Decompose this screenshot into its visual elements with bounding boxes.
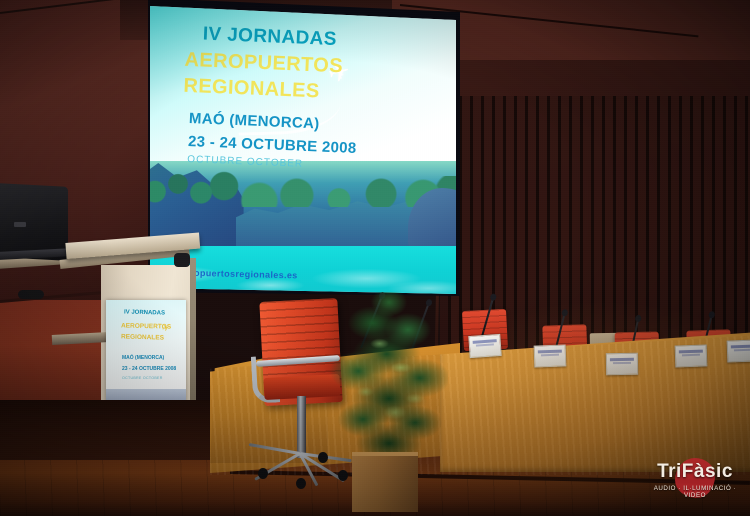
planter-box xyxy=(352,452,418,512)
name-card-text-line xyxy=(734,349,750,352)
name-card-text-line xyxy=(613,362,631,364)
plant-highlights xyxy=(330,292,448,464)
potted-plant-foliage xyxy=(330,292,448,464)
chair-caster xyxy=(318,452,328,463)
chair-caster xyxy=(338,470,348,481)
podium-microphone-base xyxy=(174,253,190,267)
slide-dates: 23 - 24 OCTUBRE 2008 xyxy=(188,133,357,157)
banner-title-line3: REGIONALES xyxy=(121,334,164,342)
name-card-text-line xyxy=(682,354,700,357)
chair-caster xyxy=(258,468,268,479)
name-card-text-line xyxy=(476,343,494,346)
slide-month-caption: OCTUBRE OCTOBER xyxy=(187,154,303,170)
foreground-chair-column xyxy=(297,396,306,458)
banner-location: MAÓ (MENORCA) xyxy=(122,355,164,361)
table-microphone-base xyxy=(18,290,44,299)
watermark-name: TriFàsic xyxy=(645,462,745,481)
banner-dates: 23 - 24 OCTUBRE 2008 xyxy=(122,366,176,372)
laptop-logo-icon xyxy=(14,222,26,227)
watermark-subtitle: AUDIO · IL·LUMINACIÓ · VIDEO xyxy=(645,485,745,499)
slide-title-line1: IV JORNADAS xyxy=(202,24,337,52)
banner-title-line2: AEROPUERTOS xyxy=(121,322,171,330)
name-card-text-line xyxy=(541,354,559,357)
conference-hall-photo: ✈ IV JORNADAS AEROPUERTOS REGIONALES MAÓ… xyxy=(0,0,750,516)
name-card xyxy=(727,339,750,362)
name-card xyxy=(675,344,708,367)
chair-caster xyxy=(296,478,306,489)
name-card xyxy=(606,353,638,376)
planter-box-rim xyxy=(352,452,418,456)
photographer-watermark: TriFàsic AUDIO · IL·LUMINACIÓ · VIDEO xyxy=(645,462,745,508)
projection-screen: ✈ IV JORNADAS AEROPUERTOS REGIONALES MAÓ… xyxy=(112,0,456,304)
banner-month-caption: OCTUBRE OCTOBER xyxy=(122,376,163,380)
name-card xyxy=(468,334,501,358)
banner-title-line1: IV JORNADAS xyxy=(124,309,165,316)
name-card-text-line xyxy=(610,358,634,361)
name-card xyxy=(534,344,567,367)
slide-title-line2: AEROPUERTOS xyxy=(184,49,343,79)
slide-text-block: ✈ IV JORNADAS AEROPUERTOS REGIONALES MAÓ… xyxy=(112,0,456,304)
slide-title-line3: REGIONALES xyxy=(183,75,320,104)
